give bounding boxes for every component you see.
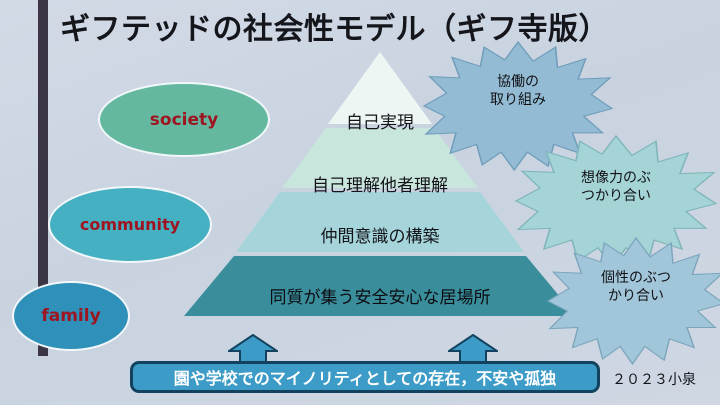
bottom-banner-label: 園や学校でのマイノリティとしての存在，不安や孤独 [174,365,557,389]
arrow-up-icon [229,335,277,364]
arrow-up-icon [449,335,497,364]
slide-canvas: ギフテッドの社会性モデル（ギフ寺版） 自己実現 自己理解他者理解 仲間意識の構築… [0,0,720,405]
arrow-up-right [448,334,498,364]
arrow-up-left [228,334,278,364]
starburst-individuality-shape [548,238,720,364]
ellipse-community-label: community [80,215,180,234]
ellipse-society: society [98,82,270,157]
credit-text: ２０２３小泉 [612,369,696,389]
ellipse-family-label: family [41,306,100,326]
ellipse-society-label: society [150,110,218,130]
bottom-banner: 園や学校でのマイノリティとしての存在，不安や孤独 [130,361,600,393]
pyramid-level-4-label: 同質が集う安全安心な居場所 [170,283,590,308]
starburst-individuality: 個性のぶつ かり合い [548,238,720,364]
ellipse-community: community [48,186,212,263]
ellipse-family: family [12,281,130,351]
